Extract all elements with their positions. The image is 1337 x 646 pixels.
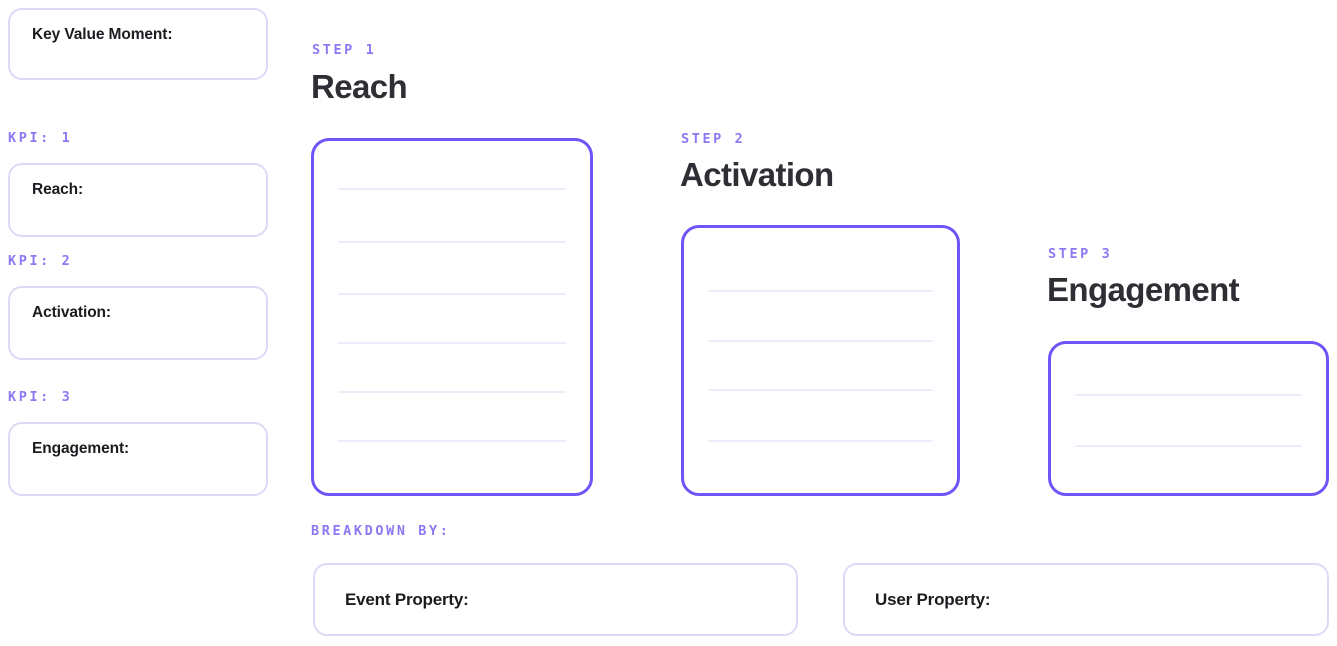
rule-line — [338, 241, 566, 243]
rule-line — [708, 389, 933, 391]
rule-line — [1075, 445, 1302, 447]
key-value-moment-card[interactable]: Key Value Moment: — [8, 8, 268, 80]
rule-line — [338, 391, 566, 393]
step-2-title: Activation — [680, 158, 834, 191]
kpi-2-card[interactable]: Activation: — [8, 286, 268, 360]
step-1-rule-lines — [314, 141, 590, 493]
rule-line — [338, 188, 566, 190]
kpi-1-label: Reach: — [32, 181, 83, 199]
event-property-card[interactable]: Event Property: — [313, 563, 798, 636]
rule-line — [1075, 394, 1302, 396]
step-1-kicker: STEP 1 — [312, 42, 376, 58]
step-3-kicker: STEP 3 — [1048, 246, 1112, 262]
rule-line — [708, 290, 933, 292]
worksheet-canvas: Key Value Moment: KPI: 1 Reach: KPI: 2 A… — [0, 0, 1337, 646]
step-1-title: Reach — [311, 70, 407, 103]
rule-line — [338, 342, 566, 344]
kpi-3-label: Engagement: — [32, 440, 129, 458]
kpi-3-card[interactable]: Engagement: — [8, 422, 268, 496]
step-1-card[interactable] — [311, 138, 593, 496]
kpi-2-label: Activation: — [32, 304, 111, 322]
kpi-1-card[interactable]: Reach: — [8, 163, 268, 237]
step-3-title: Engagement — [1047, 273, 1239, 306]
rule-line — [708, 340, 933, 342]
event-property-label: Event Property: — [345, 590, 469, 610]
rule-line — [338, 293, 566, 295]
step-2-kicker: STEP 2 — [681, 131, 745, 147]
step-2-card[interactable] — [681, 225, 960, 496]
key-value-moment-label: Key Value Moment: — [32, 26, 172, 44]
step-2-rule-lines — [684, 228, 957, 493]
kpi-2-kicker: KPI: 2 — [8, 253, 72, 269]
user-property-label: User Property: — [875, 590, 990, 610]
step-3-card[interactable] — [1048, 341, 1329, 496]
kpi-3-kicker: KPI: 3 — [8, 389, 72, 405]
user-property-card[interactable]: User Property: — [843, 563, 1329, 636]
kpi-1-kicker: KPI: 1 — [8, 130, 72, 146]
rule-line — [338, 440, 566, 442]
step-3-rule-lines — [1051, 344, 1326, 493]
rule-line — [708, 440, 933, 442]
breakdown-by-kicker: BREAKDOWN BY: — [311, 523, 450, 539]
